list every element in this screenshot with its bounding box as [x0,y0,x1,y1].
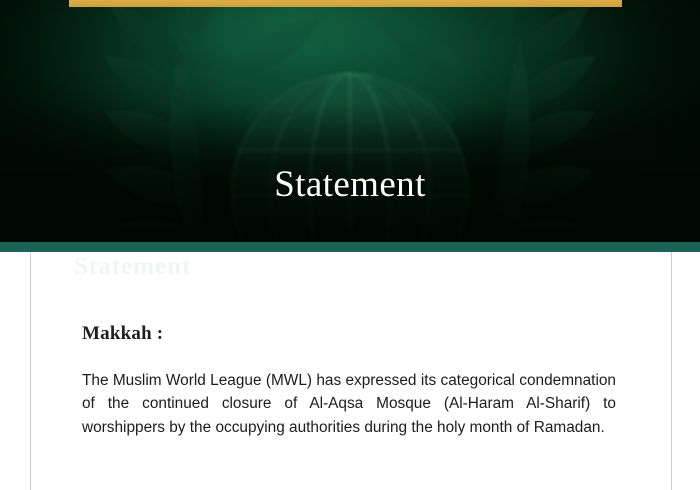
statement-page: Statement Makkah : The Muslim World Leag… [0,0,700,490]
teal-divider-strip [0,242,700,252]
right-margin-rule [671,252,672,490]
header-banner: Statement [0,0,700,242]
statement-paragraph: The Muslim World League (MWL) has expres… [82,345,616,440]
left-margin-rule [30,252,31,490]
document-body: Makkah : The Muslim World League (MWL) h… [0,252,700,490]
background-watermark-text: Statement [74,253,274,281]
page-title: Statement [0,166,700,203]
gold-accent-bar [69,0,622,7]
statement-content: Makkah : The Muslim World League (MWL) h… [82,324,616,439]
dateline: Makkah : [82,324,616,345]
